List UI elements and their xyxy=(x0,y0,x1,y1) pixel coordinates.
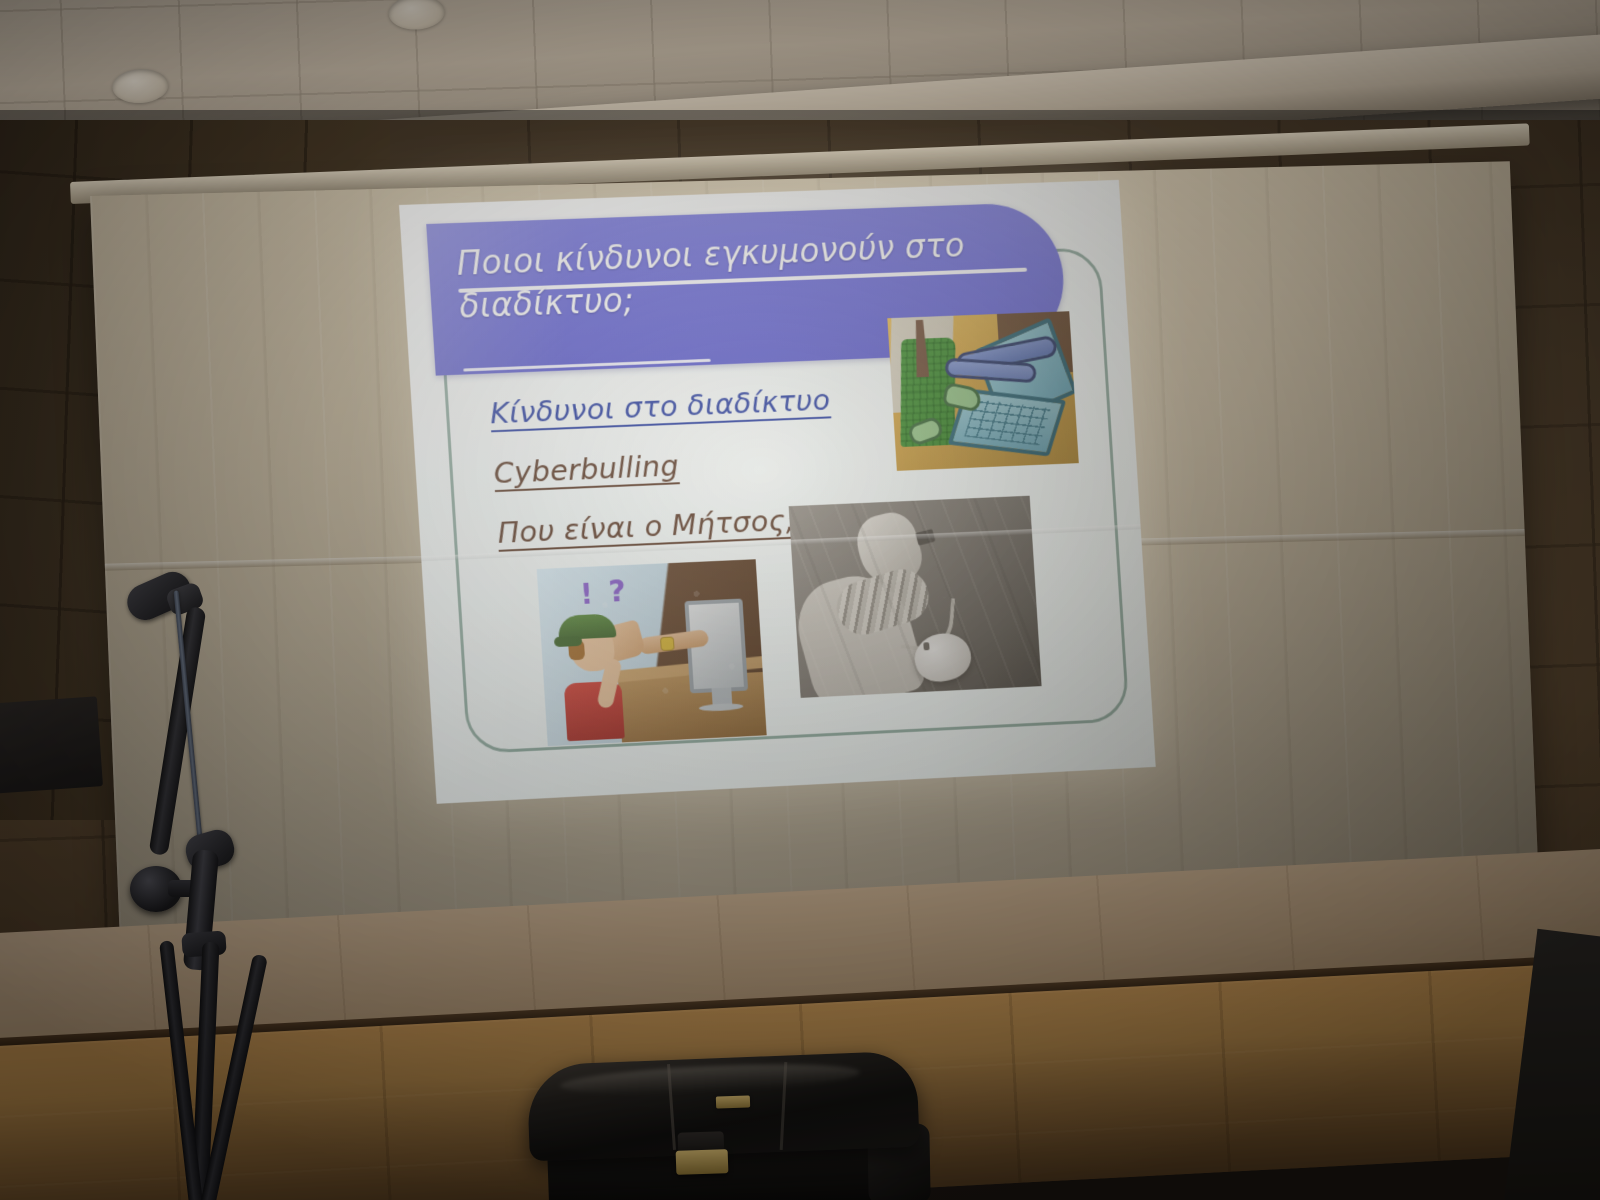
presentation-room-scene: Ποιοι κίνδυνοι εγκυμονούν στο διαδίκτυο;… xyxy=(0,0,1600,1200)
microphone-stand[interactable] xyxy=(0,560,430,1200)
bound-hand-mouse-photo xyxy=(789,496,1042,698)
projected-slide: Ποιοι κίνδυνοι εγκυμονούν στο διαδίκτυο;… xyxy=(399,180,1156,804)
slide-link-cyberbulling[interactable]: Cyberbulling xyxy=(493,441,917,488)
boy-monitor-cartoon: ! ? xyxy=(537,559,767,746)
briefcase-lock-icon[interactable] xyxy=(676,1149,729,1175)
page-title: Ποιοι κίνδυνοι εγκυμονούν στο διαδίκτυο; xyxy=(455,222,1048,329)
briefcase[interactable] xyxy=(520,1052,930,1200)
laptop-arms-illustration xyxy=(887,311,1078,471)
slide-canvas: Ποιοι κίνδυνοι εγκυμονούν στο διαδίκτυο;… xyxy=(399,180,1156,804)
briefcase-top-clasp-icon xyxy=(716,1095,750,1108)
